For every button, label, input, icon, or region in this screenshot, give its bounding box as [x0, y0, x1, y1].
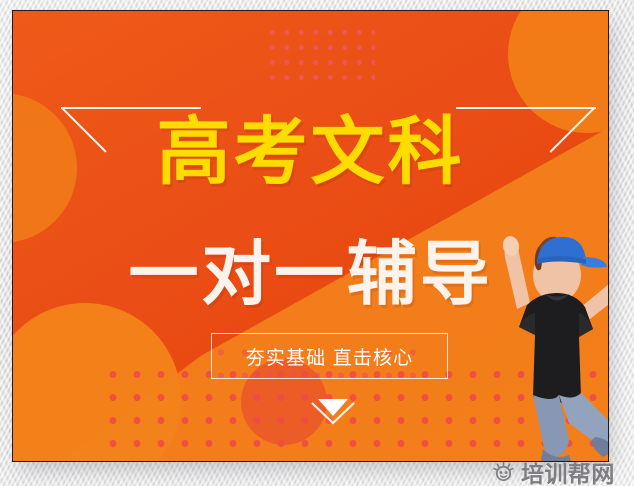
- watermark-text: 培训帮网: [521, 455, 615, 486]
- jumping-student-illustration: [483, 217, 609, 461]
- poster-tagline: 夯实基础 直击核心: [246, 343, 414, 370]
- page-canvas: 高考文科 一对一辅导 夯实基础 直击核心: [0, 0, 634, 486]
- chevron-down-icon: [309, 396, 357, 426]
- promo-poster: 高考文科 一对一辅导 夯实基础 直击核心: [12, 10, 609, 462]
- poster-title-main: 高考文科: [13, 115, 608, 189]
- watermark: 培训帮网: [492, 455, 615, 486]
- sun-face-icon: [492, 461, 515, 484]
- tagline-box: 夯实基础 直击核心: [211, 333, 448, 379]
- circle-decoration-bottom-left: [12, 303, 181, 462]
- dot-grid-top-icon: [265, 25, 375, 87]
